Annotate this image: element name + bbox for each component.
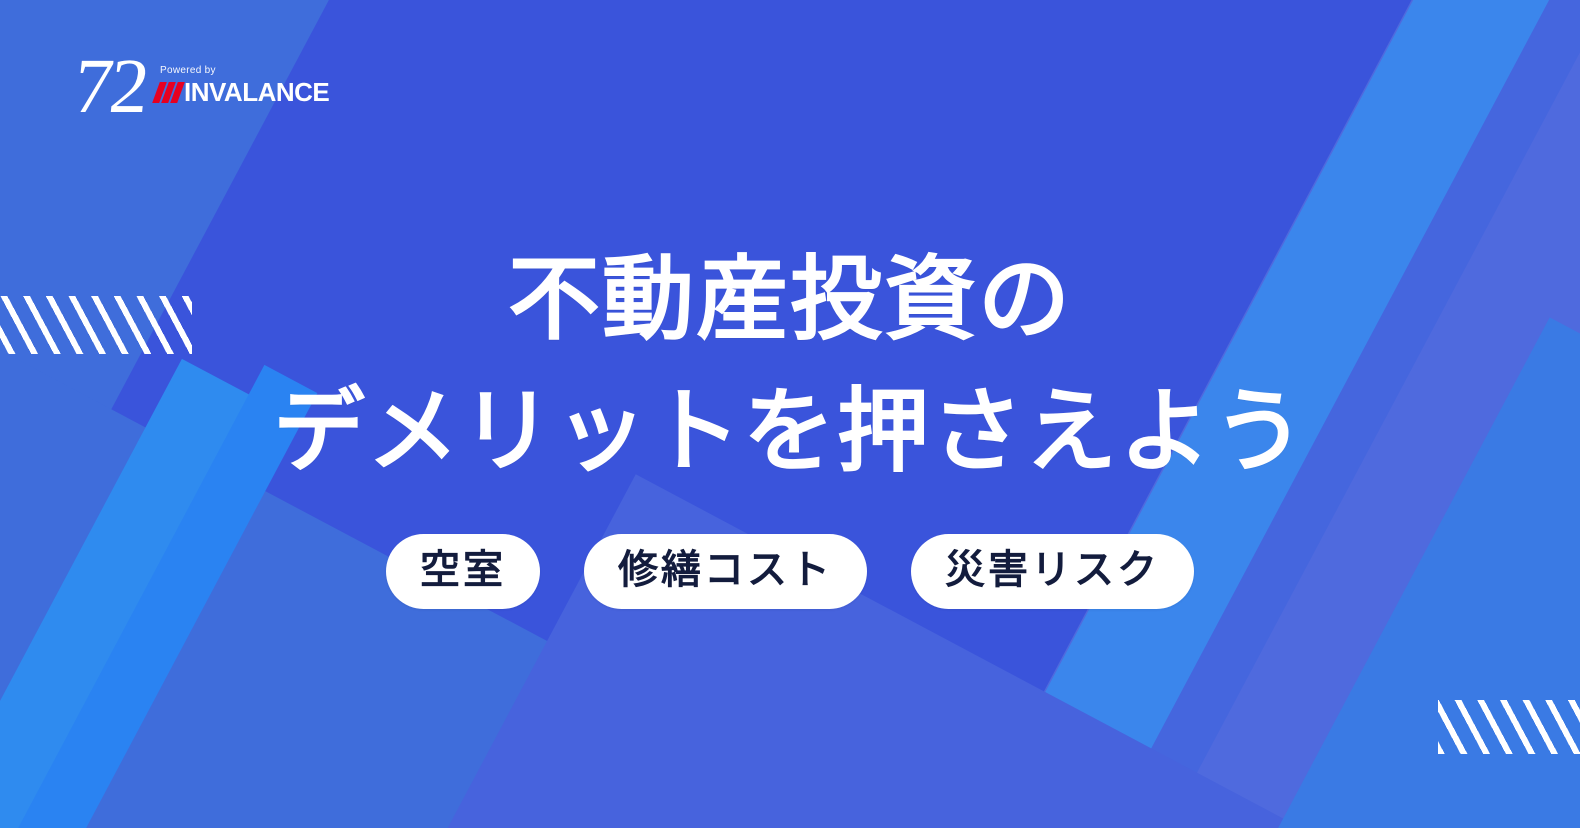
page-title: 不動産投資の デメリットを押さえよう	[0, 234, 1580, 499]
logo-lockup[interactable]: 72 Powered by INVALANCE	[74, 52, 329, 121]
diagonal-band-bottom-wash	[213, 474, 1307, 828]
hero-banner: 72 Powered by INVALANCE 不動産投資の デメリットを押さえ…	[0, 0, 1580, 828]
logo-72-mark: 72	[70, 52, 149, 121]
page-title-line-2: デメリットを押さえよう	[0, 366, 1580, 498]
keyword-badge-disaster-risk[interactable]: 災害リスク	[911, 534, 1194, 609]
brand-name-label: INVALANCE	[184, 79, 329, 105]
keyword-badge-repair-cost[interactable]: 修繕コスト	[584, 534, 867, 609]
triple-slash-icon	[156, 82, 181, 103]
brand-row: INVALANCE	[156, 79, 329, 105]
page-title-line-1: 不動産投資の	[0, 234, 1580, 366]
hatch-stripes-right-icon	[1438, 700, 1580, 754]
keyword-badge-vacancy[interactable]: 空室	[386, 534, 540, 609]
powered-by-label: Powered by	[160, 65, 216, 76]
brand-lockup: Powered by INVALANCE	[156, 65, 329, 121]
keyword-badge-group: 空室 修繕コスト 災害リスク	[0, 534, 1580, 609]
